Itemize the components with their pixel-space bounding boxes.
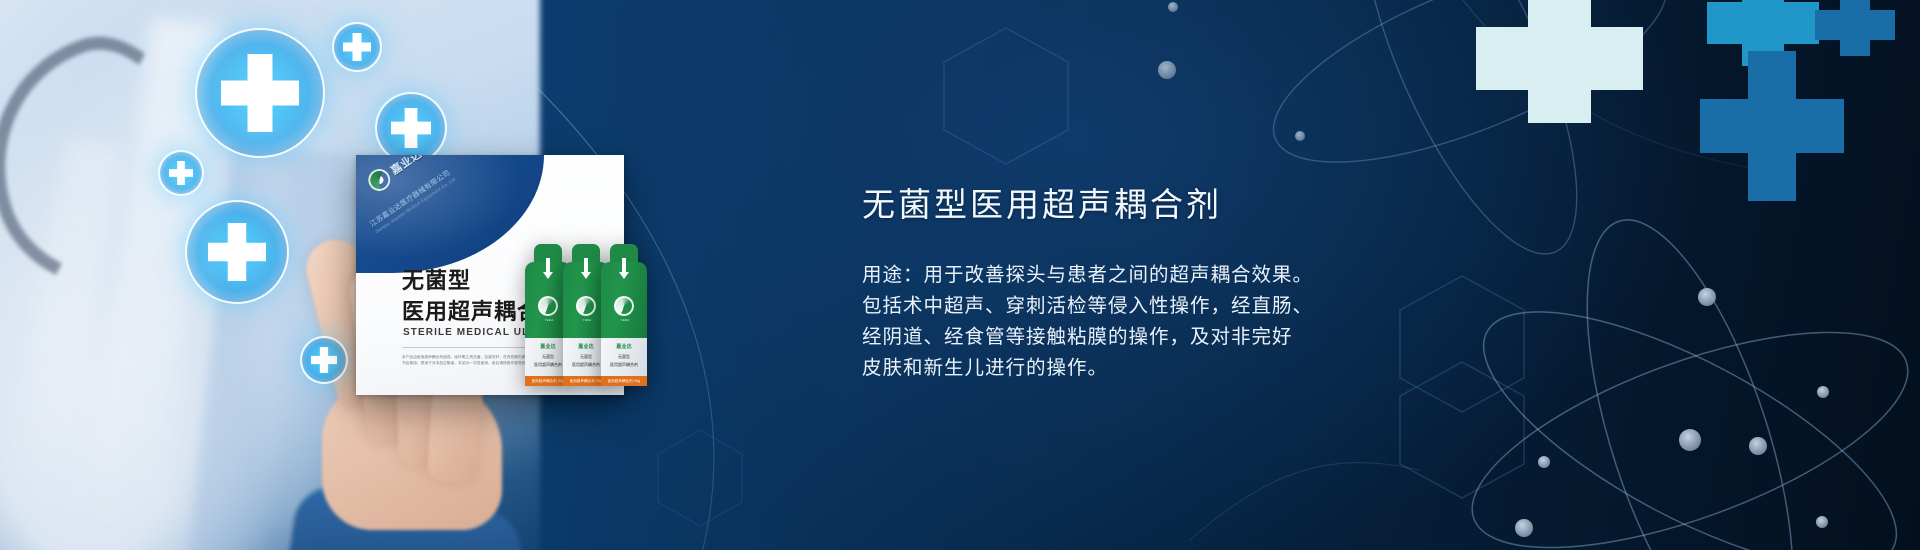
medical-cross-icon — [375, 92, 447, 164]
sachet-brand-small: YEDA — [537, 318, 561, 322]
banner-description: 用途：用于改善探头与患者之间的超声耦合效果。 包括术中超声、穿刺活检等侵入性操作… — [862, 260, 1622, 384]
sachet-line1: 无菌型 — [601, 354, 647, 360]
tear-arrow-icon — [546, 258, 550, 274]
cross-glyph — [311, 347, 337, 373]
spiral-logo-icon — [576, 296, 596, 316]
tear-arrow-icon — [584, 258, 588, 274]
medical-cross-icon — [332, 22, 382, 72]
sachet: YEDA 嘉业达 无菌型 医用超声耦合剂 医用超声耦合剂 20g — [601, 244, 647, 392]
cross-glyph — [208, 223, 266, 281]
flat-cross-decoration — [1476, 0, 1895, 201]
description-line: 用途：用于改善探头与患者之间的超声耦合效果。 — [862, 260, 1622, 291]
medical-cross-icon — [158, 150, 204, 196]
product-banner: 嘉业达 江苏嘉业达医疗器械有限公司 Jiangsu Jiayeda Medica… — [0, 0, 1920, 550]
page-title: 无菌型医用超声耦合剂 — [862, 178, 1622, 226]
cross-glyph — [343, 33, 371, 61]
medical-cross-icon — [185, 200, 289, 304]
cross-glyph — [169, 161, 193, 185]
medical-cross-icon — [195, 28, 325, 158]
tear-arrow-icon — [622, 258, 626, 274]
cross-glyph — [391, 108, 431, 148]
sachet-strip: 医用超声耦合剂 20g — [601, 376, 647, 386]
cross-glyph — [221, 54, 299, 132]
sachet-brand-small: YEDA — [575, 318, 599, 322]
sachet-line2: 医用超声耦合剂 — [601, 362, 647, 368]
sachet-brand-small: YEDA — [613, 318, 637, 322]
spiral-logo-icon — [538, 296, 558, 316]
banner-copy: 无菌型医用超声耦合剂 用途：用于改善探头与患者之间的超声耦合效果。 包括术中超声… — [862, 178, 1622, 384]
sachet-brand: 嘉业达 — [601, 343, 647, 350]
medical-cross-icon — [300, 336, 348, 384]
box-title-line1: 无菌型 — [402, 263, 471, 295]
atom-node-upper — [1158, 2, 1305, 141]
sachet-group: YEDA 嘉业达 无菌型 医用超声耦合剂 医用超声耦合剂 20g YEDA 嘉业… — [525, 244, 675, 394]
description-line: 皮肤和新生儿进行的操作。 — [862, 353, 1622, 384]
spiral-logo-icon — [614, 296, 634, 316]
description-line: 经阴道、经食管等接触粘膜的操作，及对非完好 — [862, 322, 1622, 353]
description-line: 包括术中超声、穿刺活检等侵入性操作，经直肠、 — [862, 291, 1622, 322]
